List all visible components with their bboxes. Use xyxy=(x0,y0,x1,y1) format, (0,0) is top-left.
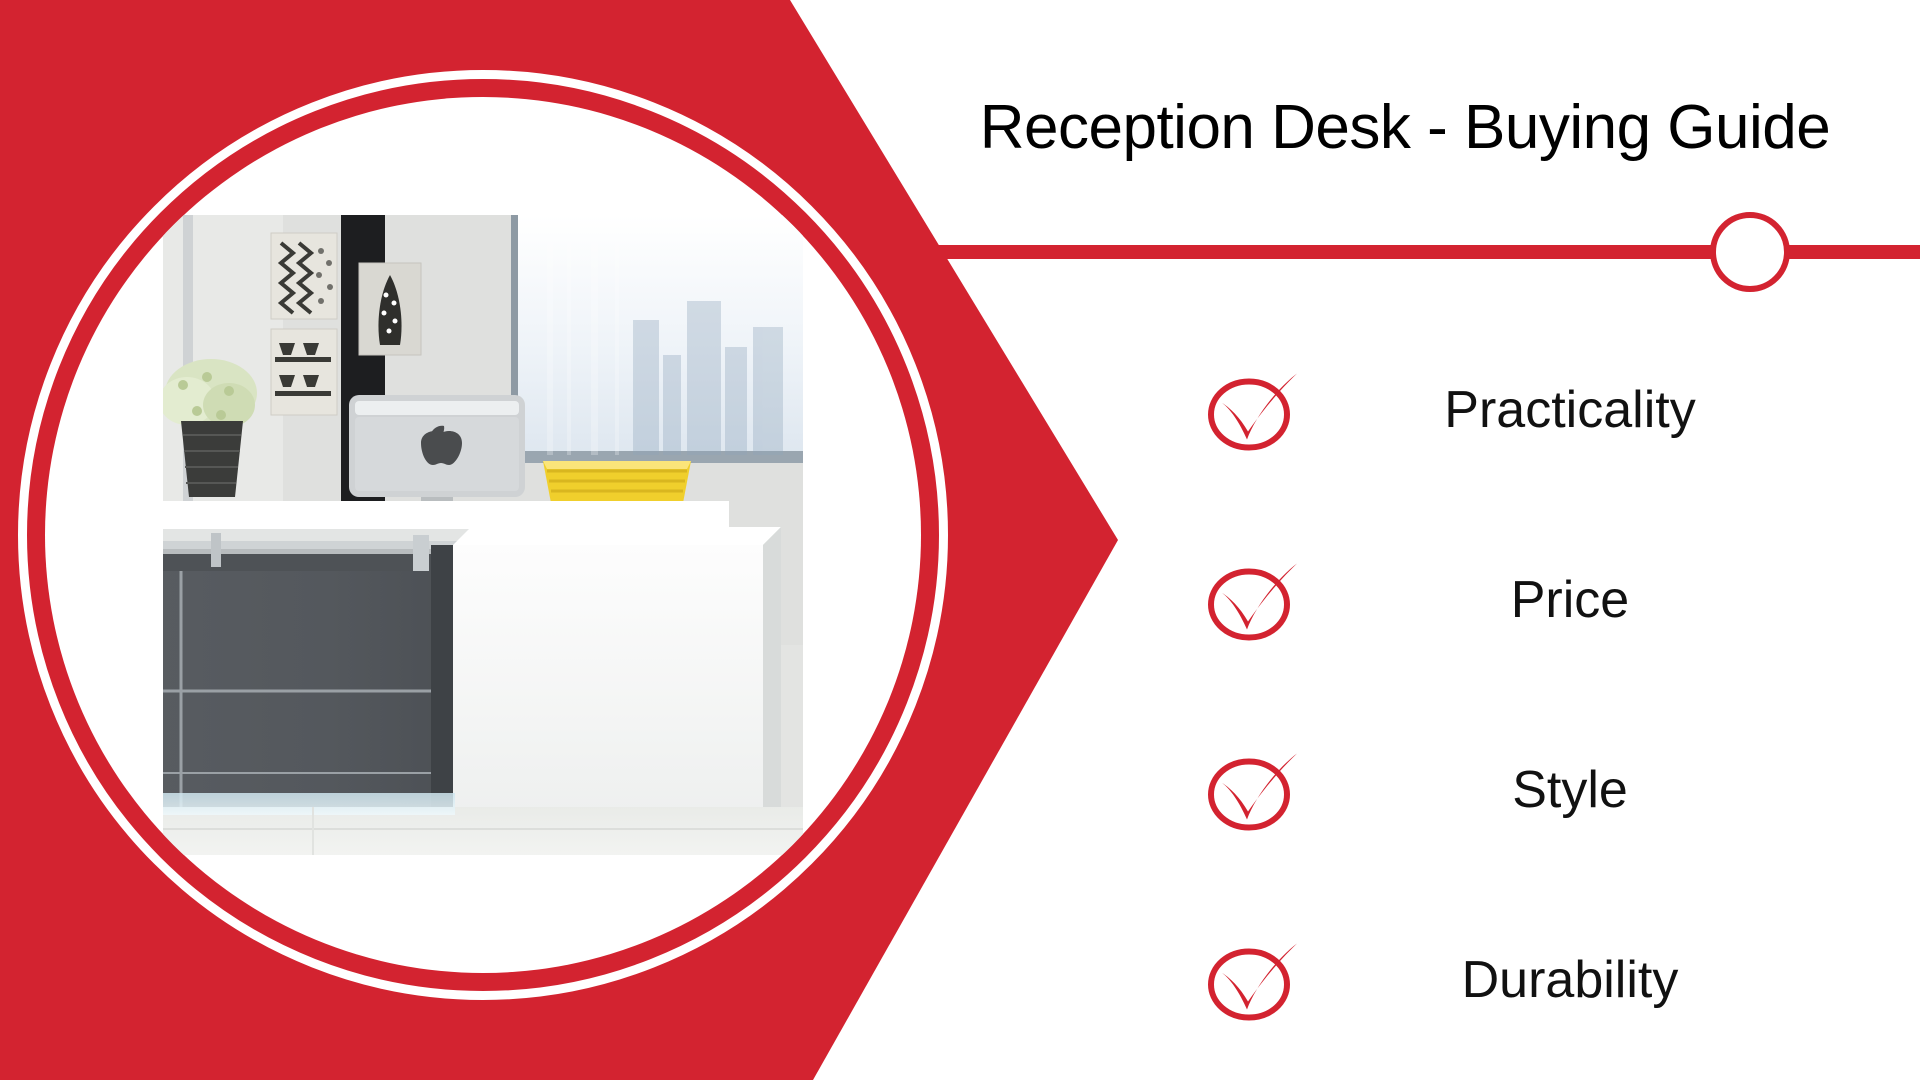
checklist: Practicality Price Sty xyxy=(900,315,1920,1075)
check-circle-icon xyxy=(1200,738,1305,843)
list-item-label: Practicality xyxy=(1320,380,1820,440)
reception-desk-photo xyxy=(163,215,803,855)
list-item[interactable]: Style xyxy=(900,695,1920,885)
page-title: Reception Desk - Buying Guide xyxy=(890,92,1920,163)
photo-circle xyxy=(18,70,948,1000)
list-item[interactable]: Price xyxy=(900,505,1920,695)
slide-canvas: Reception Desk - Buying Guide Practicali… xyxy=(0,0,1920,1080)
check-circle-icon xyxy=(1200,358,1305,463)
list-item-label: Style xyxy=(1320,760,1820,820)
check-circle-icon xyxy=(1200,928,1305,1033)
list-item-label: Price xyxy=(1320,570,1820,630)
list-item[interactable]: Durability xyxy=(900,885,1920,1075)
check-circle-icon xyxy=(1200,548,1305,653)
list-item-label: Durability xyxy=(1320,950,1820,1010)
photo-inner-disc xyxy=(45,97,921,973)
list-item[interactable]: Practicality xyxy=(900,315,1920,505)
circle-marker-icon xyxy=(1710,212,1790,292)
content-column: Reception Desk - Buying Guide Practicali… xyxy=(900,0,1920,1080)
title-divider xyxy=(878,245,1920,259)
